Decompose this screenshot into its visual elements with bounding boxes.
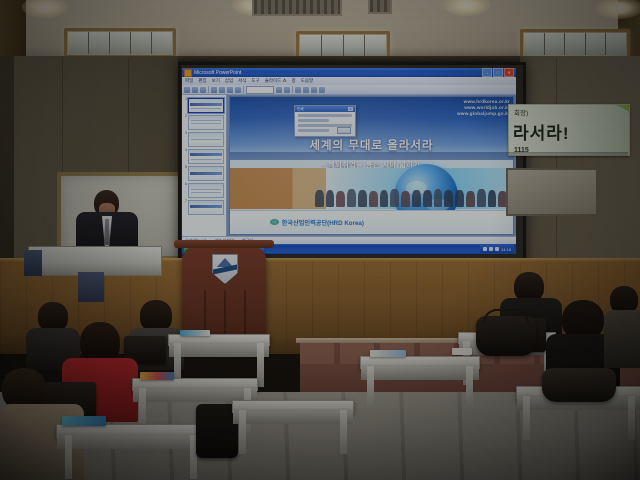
desk (56, 424, 206, 438)
powerpoint-window[interactable]: Microsoft PowerPoint – □ ✕ 파일 편집 보기 삽입 서… (182, 68, 516, 254)
print-dialog[interactable]: 인쇄 ✕ (294, 105, 356, 137)
slide-editing-area[interactable]: www.hrdkorea.or.kr www.worldjob.or.kr ww… (227, 95, 516, 236)
dialog-row (298, 119, 329, 122)
dialog-ok-button[interactable] (337, 127, 351, 134)
slide-thumbnail[interactable]: 6 (184, 183, 224, 198)
new-icon[interactable] (184, 87, 190, 93)
window-title: Microsoft PowerPoint (194, 70, 241, 76)
zoom-icon[interactable] (319, 87, 325, 93)
thumbnail-number: 3 (184, 132, 187, 136)
thumbnail-number: 5 (184, 166, 187, 170)
system-tray[interactable]: 14:18 (480, 245, 514, 253)
open-icon[interactable] (192, 87, 198, 93)
paste-icon[interactable] (235, 87, 241, 93)
shapes-icon[interactable] (295, 87, 301, 93)
maximize-button[interactable]: □ (493, 68, 503, 77)
institution-crest-icon (212, 254, 238, 284)
handout-brochure (62, 416, 106, 426)
air-vent-icon (368, 0, 392, 14)
thumbnail-number: 7 (184, 200, 187, 204)
taskbar-clock: 14:18 (501, 247, 511, 252)
handout-brochure (180, 330, 210, 336)
slide-title-band (230, 152, 513, 160)
menu-item-tools[interactable]: 도구 (251, 78, 259, 84)
thumbnail-number: 6 (184, 183, 187, 187)
dialog-close-icon[interactable]: ✕ (348, 107, 353, 111)
slide-thumbnail[interactable]: 5 (184, 166, 224, 181)
banner-main-text: 라서라! (513, 119, 570, 144)
slide-thumbnail-pane[interactable]: 1 2 3 4 5 (182, 95, 227, 236)
slide-thumbnail[interactable]: 1 (184, 98, 224, 113)
wall-banner: 회장) 라서라! 1115 (508, 104, 630, 156)
menu-item-format[interactable]: 서식 (238, 78, 246, 84)
slide-footer: 한국산업인력공단(HRD Korea) (230, 210, 513, 234)
dialog-title: 인쇄 (297, 107, 304, 112)
slide-url: www.globaljump.go.kr (457, 111, 510, 117)
slide-url-list: www.hrdkorea.or.kr www.worldjob.or.kr ww… (457, 99, 510, 118)
menu-item-insert[interactable]: 삽입 (225, 78, 233, 84)
menu-item-window[interactable]: 창 (292, 78, 296, 84)
handout-brochure (452, 348, 472, 355)
chart-icon[interactable] (303, 87, 309, 93)
wall-door-panel (506, 168, 598, 216)
handbag (476, 316, 536, 356)
attendee (604, 286, 640, 366)
shield-icon[interactable] (495, 247, 499, 251)
close-button[interactable]: ✕ (504, 68, 514, 77)
thumbnail-number: 4 (184, 149, 187, 153)
dialog-row (298, 114, 352, 117)
slide-thumbnail[interactable]: 7 (184, 200, 224, 215)
thumbnail-number: 1 (184, 98, 187, 102)
lectern-side-panel (24, 250, 42, 276)
menu-item-file[interactable]: 파일 (185, 78, 193, 84)
cut-icon[interactable] (219, 87, 225, 93)
handout-brochure (140, 372, 174, 380)
people-silhouettes-graphic (315, 187, 507, 206)
powerpoint-icon (184, 69, 192, 77)
desk (232, 400, 354, 413)
ceiling-downlight (596, 0, 640, 19)
banner-top-text: 회장) (514, 107, 528, 117)
lecture-hall-photo: Microsoft PowerPoint – □ ✕ 파일 편집 보기 삽입 서… (0, 0, 640, 480)
minimize-button[interactable]: – (482, 68, 492, 77)
slide-organization-name: 한국산업인력공단(HRD Korea) (282, 218, 364, 227)
menu-bar[interactable]: 파일 편집 보기 삽입 서식 도구 슬라이드 쇼 창 도움말 (182, 77, 516, 85)
italic-icon[interactable] (284, 87, 290, 93)
banner-shadow (508, 152, 628, 158)
ceiling-panel-light (64, 28, 176, 58)
slide-thumbnail[interactable]: 4 (184, 149, 224, 164)
ceiling-panel-light (520, 29, 630, 59)
copy-icon[interactable] (227, 87, 233, 93)
table-icon[interactable] (311, 87, 317, 93)
podium-top-surface (174, 240, 274, 248)
dialog-title-bar: 인쇄 ✕ (295, 106, 355, 112)
desk (360, 356, 480, 369)
slide-title: 세계의 무대로 올라서라 (230, 137, 513, 153)
save-icon[interactable] (200, 87, 206, 93)
lectern-post (78, 272, 104, 302)
window-controls[interactable]: – □ ✕ (482, 68, 514, 77)
slide-thumbnail[interactable]: 2 (184, 115, 224, 130)
menu-item-edit[interactable]: 편집 (198, 78, 206, 84)
powerpoint-title-bar: Microsoft PowerPoint – □ ✕ (182, 68, 516, 77)
menu-item-view[interactable]: 보기 (212, 78, 220, 84)
menu-item-help[interactable]: 도움말 (301, 78, 313, 84)
handbag (542, 368, 616, 402)
volume-icon[interactable] (483, 247, 487, 251)
slide-thumbnail[interactable]: 3 (184, 132, 224, 147)
thumbnail-number: 2 (184, 115, 187, 119)
menu-item-slideshow[interactable]: 슬라이드 쇼 (265, 78, 287, 84)
font-combo[interactable] (246, 86, 274, 94)
handout-brochure (370, 350, 406, 357)
dialog-row (298, 129, 329, 132)
hrd-korea-emblem-icon (270, 219, 279, 225)
current-slide[interactable]: www.hrdkorea.or.kr www.worldjob.or.kr ww… (229, 96, 514, 235)
print-icon[interactable] (211, 87, 217, 93)
toolbar[interactable] (182, 85, 516, 95)
powerpoint-workspace: 1 2 3 4 5 (182, 95, 516, 236)
air-vent-icon (252, 0, 342, 16)
bold-icon[interactable] (276, 87, 282, 93)
left-wall-edge (0, 56, 14, 274)
network-icon[interactable] (489, 247, 493, 251)
